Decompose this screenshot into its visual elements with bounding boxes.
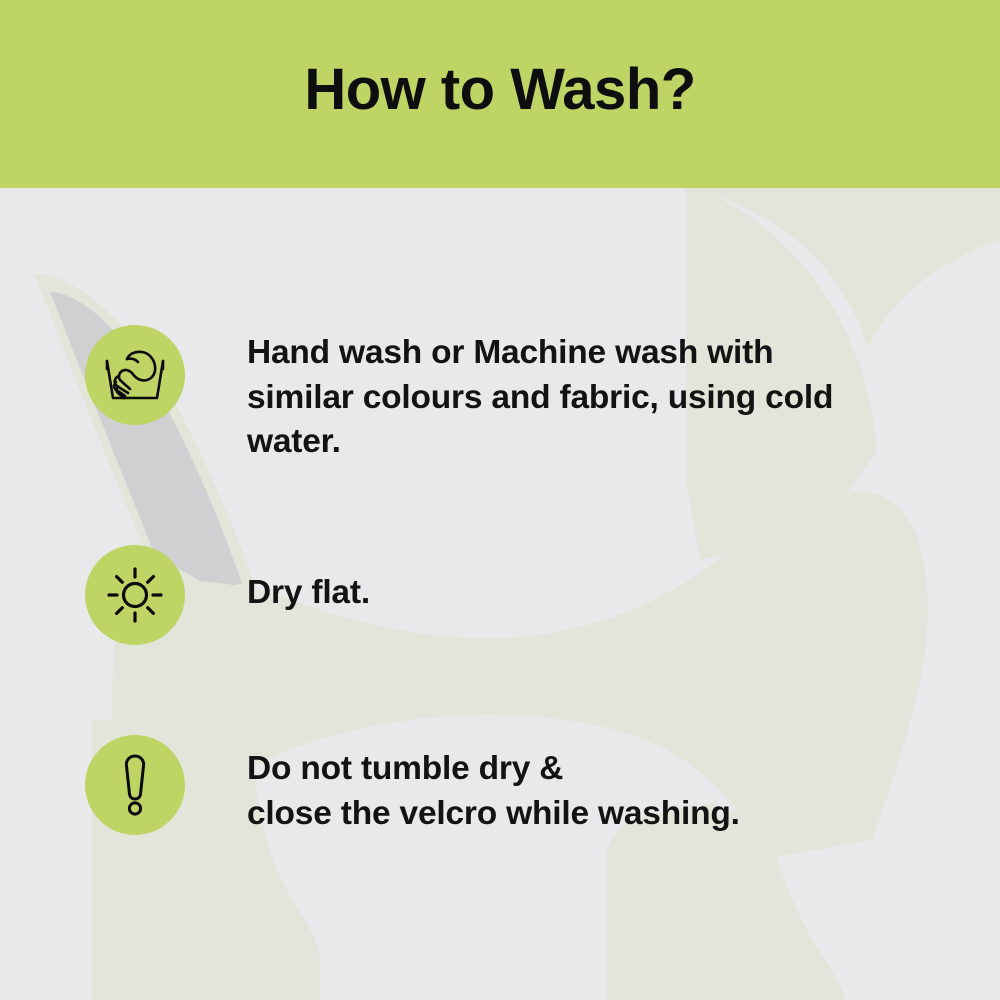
exclamation-icon-badge (85, 735, 185, 835)
hand-wash-icon (103, 344, 167, 406)
how-to-wash-poster: How to Wash? (0, 0, 1000, 1000)
hand-wash-icon-badge (85, 325, 185, 425)
sun-icon-badge (85, 545, 185, 645)
instruction-text-warning: Do not tumble dry & close the velcro whi… (247, 735, 740, 836)
exclamation-icon (115, 754, 155, 816)
sun-icon (106, 566, 164, 624)
instruction-text-dry-flat: Dry flat. (247, 545, 370, 616)
instruction-row-warning: Do not tumble dry & close the velcro whi… (85, 735, 740, 836)
instruction-text-hand-wash: Hand wash or Machine wash with similar c… (247, 325, 833, 465)
header-banner: How to Wash? (0, 0, 1000, 188)
instructions-list: Hand wash or Machine wash with similar c… (0, 188, 1000, 1000)
instruction-row-hand-wash: Hand wash or Machine wash with similar c… (85, 325, 833, 465)
page-title: How to Wash? (304, 61, 695, 127)
instruction-row-dry-flat: Dry flat. (85, 545, 370, 645)
